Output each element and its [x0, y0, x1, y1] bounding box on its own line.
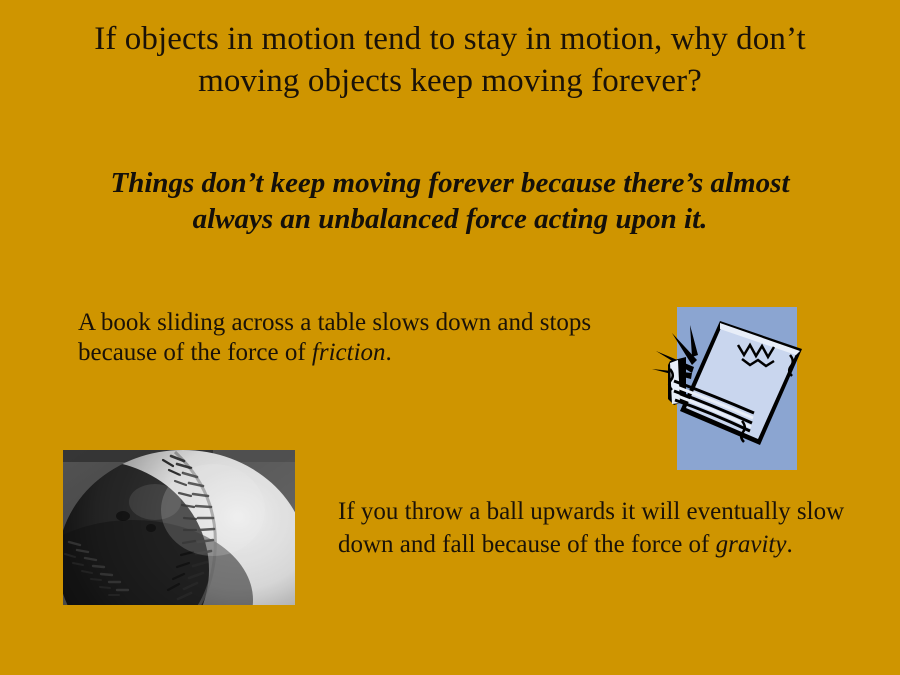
slide-subtitle: Things don’t keep moving forever because…	[70, 165, 830, 237]
ball-explanation-text: If you throw a ball upwards it will even…	[338, 495, 848, 561]
ball-text-after: .	[786, 531, 792, 558]
book-explanation-text: A book sliding across a table slows down…	[78, 308, 623, 368]
book-text-after: .	[386, 339, 392, 366]
slide-canvas: If objects in motion tend to stay in mot…	[0, 0, 900, 675]
ball-text-emphasis: gravity	[716, 531, 787, 558]
baseball-image	[63, 450, 295, 605]
book-text-emphasis: friction	[312, 339, 386, 366]
book-icon	[650, 303, 810, 478]
slide-title: If objects in motion tend to stay in mot…	[60, 18, 840, 102]
book-illustration	[650, 303, 810, 478]
baseball-photo	[63, 450, 295, 605]
